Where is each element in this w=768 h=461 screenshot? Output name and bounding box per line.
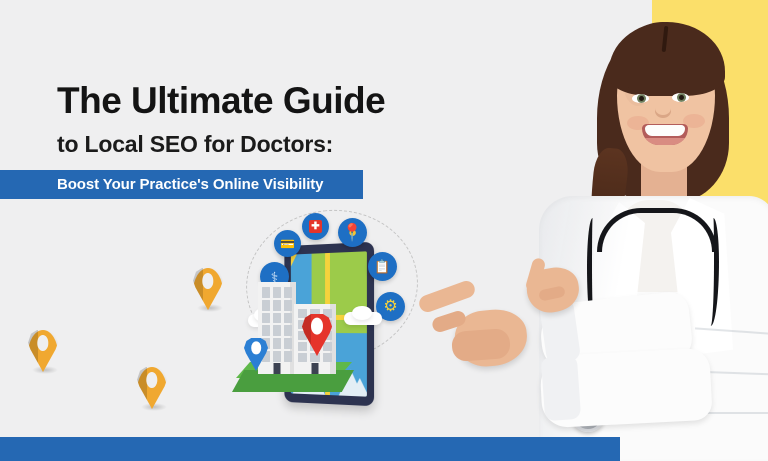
tagline-banner: Boost Your Practice's Online Visibility [0,170,363,199]
eye-right [672,93,689,102]
hero-banner: The Ultimate Guide to Local SEO for Doct… [0,0,768,461]
page-title: The Ultimate Guide [0,82,420,121]
headline-block: The Ultimate Guide to Local SEO for Doct… [0,82,420,199]
seo-illustration: 💳 ✚ ● 📍 ⚕ 📋 ⚙ [228,210,438,415]
nose [655,104,671,118]
map-pin-icon [244,338,268,371]
cloud-shape [352,306,372,320]
mouth [642,124,688,145]
doctor-photo [545,0,768,461]
map-pin-icon [193,268,223,310]
map-pin-icon: ● 📍 [338,218,367,247]
coat-cuff-lower [541,355,581,421]
map-pin-icon [28,330,58,372]
footer-bar [0,437,560,461]
medical-cross-icon: ✚ [302,213,329,240]
tagline-text: Boost Your Practice's Online Visibility [0,176,323,193]
eye-left [632,94,649,103]
page-subtitle: to Local SEO for Doctors: [0,131,420,158]
clipboard-icon: 📋 [368,252,397,281]
wallet-icon: 💳 [274,230,301,257]
map-pin-icon [137,367,167,409]
knuckle-ridge-lower [451,328,511,362]
footer-bar-extension [540,437,620,461]
primary-location-pin-icon [302,314,332,356]
